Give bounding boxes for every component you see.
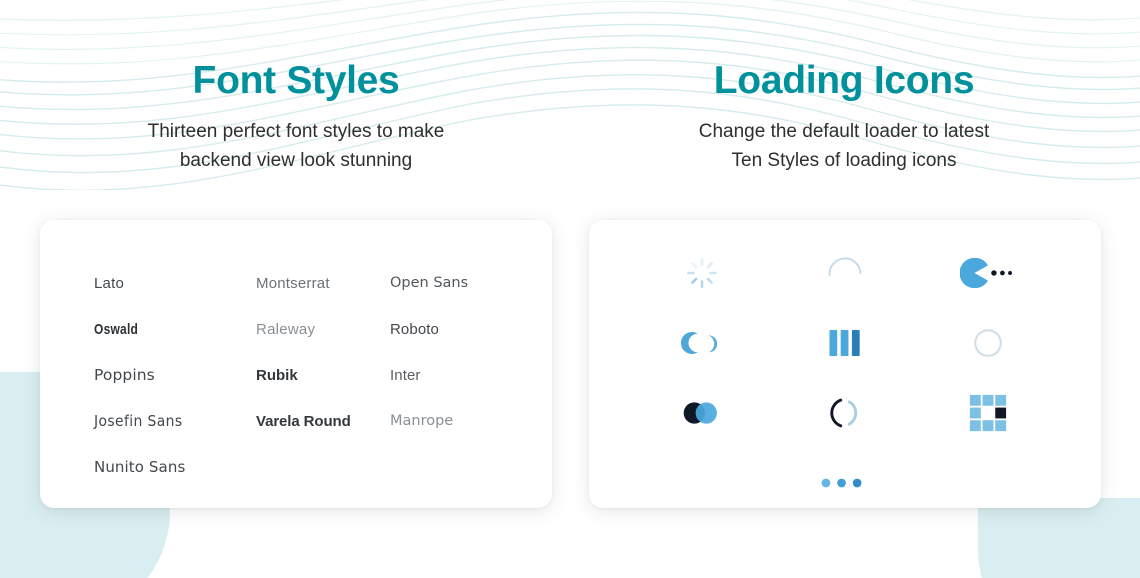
loader-cell-9[interactable] <box>916 378 1059 448</box>
font-item-oswald[interactable]: Oswald <box>94 306 224 352</box>
font-item-varela-round[interactable]: Varela Round <box>256 398 390 444</box>
font-styles-subtitle-line-2: backend view look stunning <box>0 148 592 175</box>
font-item-roboto[interactable]: Roboto <box>390 306 514 352</box>
grid-squares-icon <box>969 394 1007 432</box>
font-item-lato[interactable]: Lato <box>94 260 256 306</box>
font-item-montserrat[interactable]: Montserrat <box>256 260 390 306</box>
font-styles-subtitle-line-1: Thirteen perfect font styles to make <box>0 119 592 146</box>
spinner-arc-icon <box>825 253 865 293</box>
page-root: Font Styles Thirteen perfect font styles… <box>0 0 1140 578</box>
pacman-dots-icon <box>960 258 1016 288</box>
font-item-open-sans[interactable]: Open Sans <box>390 260 514 306</box>
font-item-raleway[interactable]: Raleway <box>256 306 390 352</box>
loader-cell-3[interactable] <box>916 238 1059 308</box>
font-item-poppins[interactable]: Poppins <box>94 352 256 398</box>
loading-icons-card <box>589 220 1101 508</box>
font-item-nunito-sans[interactable]: Nunito Sans <box>94 444 256 490</box>
font-styles-title: Font Styles <box>0 58 592 104</box>
loader-cell-5[interactable] <box>774 308 917 378</box>
loader-cell-6[interactable] <box>916 308 1059 378</box>
font-styles-card: Lato Montserrat Open Sans Oswald Raleway… <box>40 220 552 508</box>
loader-cell-7[interactable] <box>631 378 774 448</box>
font-item-inter[interactable]: Inter <box>390 352 514 398</box>
font-styles-panel: Font Styles Thirteen perfect font styles… <box>0 0 592 175</box>
font-list-grid: Lato Montserrat Open Sans Oswald Raleway… <box>94 260 514 490</box>
loader-cell-2[interactable] <box>774 238 917 308</box>
loading-icons-header: Loading Icons Change the default loader … <box>548 0 1140 175</box>
loading-icons-panel: Loading Icons Change the default loader … <box>548 0 1140 175</box>
spinner-dashes-icon <box>685 256 719 290</box>
three-bars-icon <box>826 326 864 360</box>
loading-icons-subtitle-line-1: Change the default loader to latest <box>548 119 1140 146</box>
ring-outline-icon <box>971 326 1005 360</box>
font-item-josefin-sans[interactable]: Josefin Sans <box>94 398 245 444</box>
loading-icons-subtitle-line-2: Ten Styles of loading icons <box>548 148 1140 175</box>
font-item-manrope[interactable]: Manrope <box>390 398 514 444</box>
three-dots-icon <box>819 476 871 490</box>
font-styles-header: Font Styles Thirteen perfect font styles… <box>0 0 592 175</box>
loader-cell-8[interactable] <box>774 378 917 448</box>
loader-cell-1[interactable] <box>631 238 774 308</box>
loading-icons-title: Loading Icons <box>548 58 1140 104</box>
dual-crescent-icon <box>680 328 724 358</box>
two-circles-icon <box>679 399 725 427</box>
split-brackets-icon <box>825 395 865 431</box>
loader-icon-grid <box>631 238 1059 518</box>
font-item-rubik[interactable]: Rubik <box>256 352 390 398</box>
loader-cell-10[interactable] <box>631 448 1059 518</box>
loader-cell-4[interactable] <box>631 308 774 378</box>
